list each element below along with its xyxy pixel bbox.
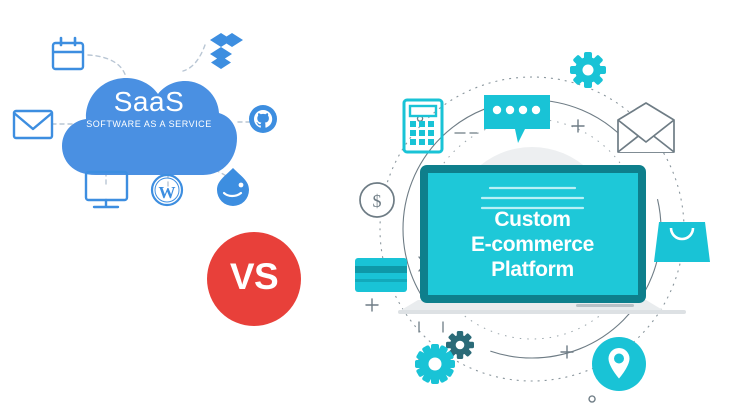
- svg-text:W: W: [159, 183, 176, 202]
- location-pin-icon: [592, 337, 646, 391]
- shopping-bag-icon: [654, 222, 710, 262]
- calendar-icon: [53, 38, 83, 69]
- plus-mark: [366, 299, 378, 311]
- github-icon: [249, 105, 277, 133]
- vs-badge: [207, 232, 301, 326]
- gear-icon-large: [415, 344, 455, 384]
- laptop-base-edge: [398, 310, 686, 314]
- mail-icon: [14, 111, 52, 138]
- wordpress-icon: W: [152, 175, 182, 205]
- dropbox-icon: [210, 33, 243, 69]
- dollar-circle-icon: $: [360, 183, 394, 217]
- connector-dropbox: [183, 45, 205, 71]
- calculator-icon: [404, 100, 442, 152]
- plus-mark: [561, 346, 573, 358]
- infographic-canvas: $: [0, 0, 730, 417]
- gear-icon-top: [570, 52, 606, 88]
- svg-text:$: $: [373, 191, 382, 211]
- laptop-trackpad: [576, 304, 634, 307]
- chat-bubble-icon: [484, 95, 550, 143]
- saas-cloud: [62, 78, 237, 175]
- cloud-shape: [62, 78, 237, 175]
- illustration-svg: $: [0, 0, 730, 417]
- monitor-icon: [86, 172, 127, 207]
- plus-mark: [572, 120, 584, 132]
- credit-card-icon: [355, 258, 407, 292]
- laptop-screen: [428, 173, 638, 295]
- envelope-open-icon: [618, 103, 674, 152]
- laptop: [398, 165, 686, 314]
- vs-circle: [207, 232, 301, 326]
- connector-calendar: [88, 55, 126, 77]
